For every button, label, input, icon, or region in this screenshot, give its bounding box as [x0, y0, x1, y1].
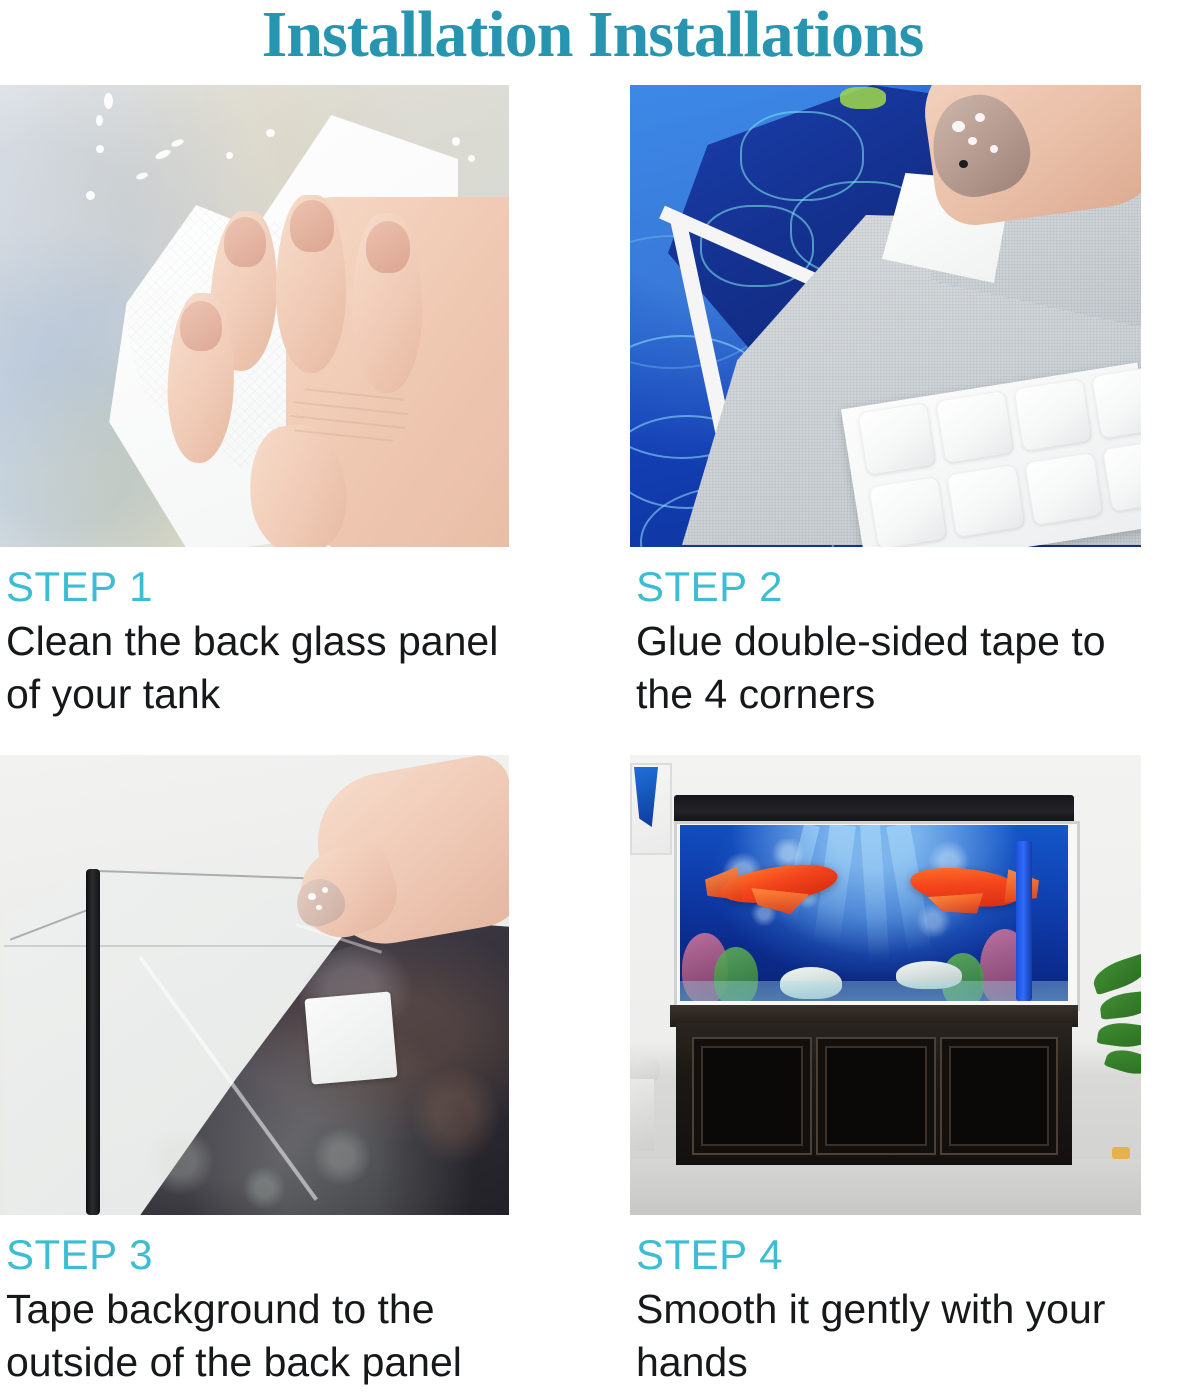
- nail-glitter: [975, 113, 985, 122]
- cleaning-cloth: [106, 115, 458, 547]
- thumb: [243, 420, 352, 547]
- nail-glitter: [990, 145, 998, 153]
- step-3-photo: [0, 755, 509, 1215]
- step-1-photo: [0, 85, 509, 547]
- step-4-description: Smooth it gently with your hands: [636, 1283, 1141, 1388]
- water-droplet: [226, 152, 233, 159]
- tank-corner-trim: [86, 869, 100, 1215]
- house-plant-leaf: [1099, 990, 1141, 1020]
- adhesive-pad: [868, 476, 947, 547]
- water-droplet: [154, 148, 171, 161]
- water-droplet: [118, 403, 126, 411]
- fingernail: [366, 221, 410, 273]
- house-plant-leaf: [1097, 1019, 1141, 1050]
- cabinet-door: [816, 1037, 936, 1155]
- water-droplet: [266, 129, 275, 137]
- step-1-description: Clean the back glass panel of your tank: [6, 615, 509, 720]
- adhesive-pad: [935, 390, 1014, 464]
- step-4-photo: [630, 755, 1141, 1215]
- step-2-description: Glue double-sided tape to the 4 corners: [636, 615, 1141, 720]
- water-droplet: [96, 115, 103, 126]
- nail-glitter: [316, 905, 322, 910]
- fingernail: [180, 301, 222, 351]
- cloth-texture: [100, 195, 340, 475]
- decor-object: [630, 1079, 654, 1151]
- floor: [630, 1159, 1141, 1215]
- adhesive-pad: [946, 464, 1025, 538]
- water-droplet: [355, 133, 363, 141]
- ring-finger: [352, 213, 422, 393]
- nail-glitter: [968, 137, 977, 145]
- floor-accent: [1112, 1147, 1130, 1159]
- house-plant-leaf: [1104, 1044, 1141, 1079]
- little-finger: [165, 292, 237, 464]
- aquarium-tube: [1016, 841, 1032, 1001]
- knuckle-crease: [290, 385, 408, 445]
- adhesive-pad: [1091, 367, 1141, 440]
- aquarium-water-scene: [680, 825, 1068, 1001]
- adhesive-pad: [857, 402, 936, 476]
- adhesive-pad: [1013, 378, 1092, 452]
- cabinet-door: [692, 1037, 812, 1155]
- cabinet-door: [940, 1037, 1058, 1155]
- step-card-2: STEP 2 Glue double-sided tape to the 4 c…: [630, 85, 1141, 720]
- water-droplet: [135, 171, 148, 180]
- nail-glitter: [322, 887, 328, 893]
- poster-green-accent: [840, 87, 886, 109]
- step-2-photo: [630, 85, 1141, 547]
- nail-dot: [959, 160, 968, 168]
- water-droplet: [400, 161, 410, 167]
- water-droplet: [96, 145, 104, 153]
- step-card-4: STEP 4 Smooth it gently with your hands: [630, 755, 1141, 1388]
- fingernail: [290, 200, 334, 252]
- step-3-label: STEP 3: [6, 1233, 509, 1277]
- adhesive-pad: [304, 991, 397, 1084]
- substrate: [680, 981, 1068, 1001]
- step-4-label: STEP 4: [636, 1233, 1141, 1277]
- step-card-3: STEP 3 Tape background to the outside of…: [0, 755, 509, 1388]
- index-finger: [207, 209, 281, 372]
- step-3-description: Tape background to the outside of the ba…: [6, 1283, 509, 1388]
- cleaning-cloth-fold: [86, 205, 376, 547]
- adhesive-pad: [1024, 452, 1103, 526]
- water-droplet: [104, 93, 113, 109]
- step-1-label: STEP 1: [6, 565, 509, 609]
- page-title: Installation Installations: [0, 0, 1185, 76]
- poster-gravel-texture: [120, 1125, 420, 1215]
- middle-finger: [276, 195, 346, 373]
- nail-glitter: [308, 893, 316, 900]
- water-droplet: [468, 155, 475, 162]
- nail-glitter: [952, 121, 965, 132]
- water-droplet: [86, 191, 95, 200]
- water-droplet: [170, 138, 184, 148]
- step-2-label: STEP 2: [636, 565, 1141, 609]
- light-ray: [860, 825, 890, 965]
- water-droplet: [452, 137, 460, 146]
- hand: [286, 197, 509, 547]
- step-card-1: STEP 1 Clean the back glass panel of you…: [0, 85, 509, 720]
- fingernail: [224, 217, 266, 267]
- house-plant-leaf: [1089, 953, 1141, 996]
